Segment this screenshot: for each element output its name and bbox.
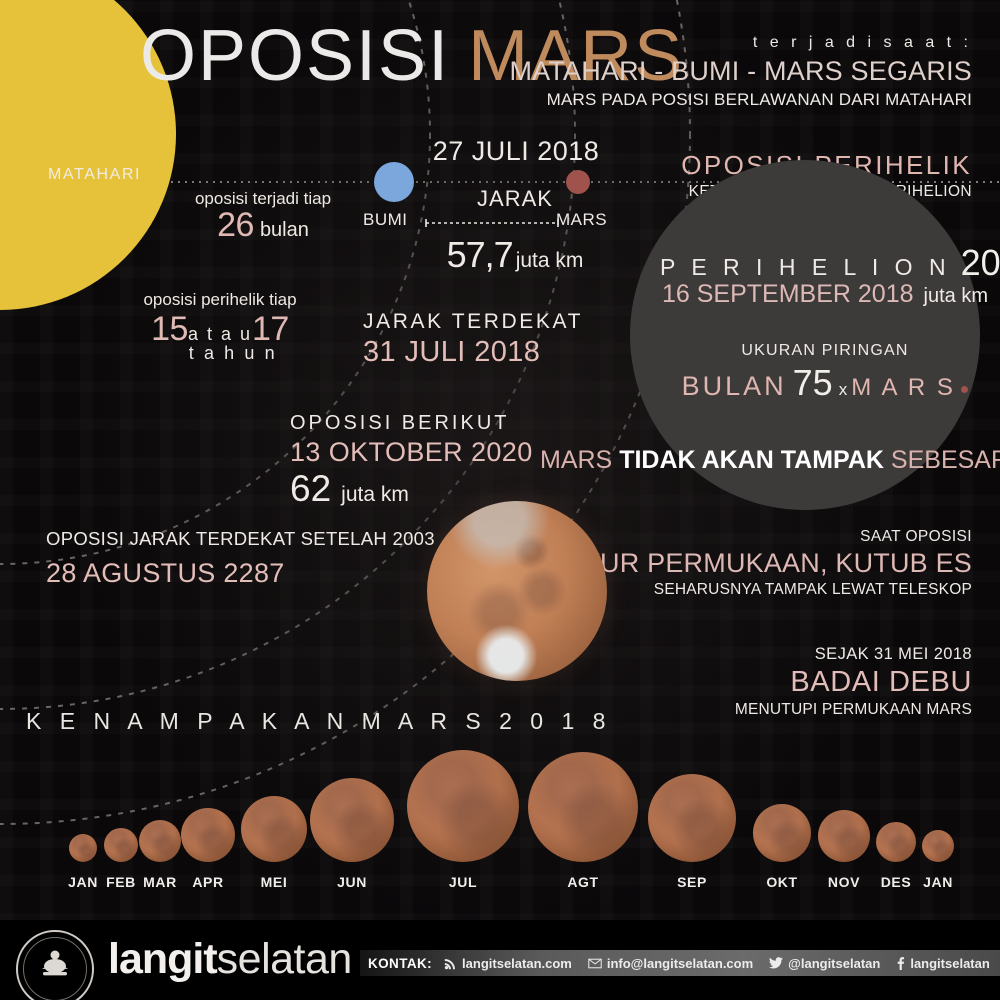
not-as-big-part1: MARS (540, 446, 619, 474)
mars-month-label-jun: JUN (337, 874, 367, 890)
contact-item-twitter[interactable]: @langitselatan (769, 956, 880, 971)
fact-next-value: 62 (290, 468, 331, 509)
fact-closest-heading: JARAK TERDEKAT (363, 310, 583, 334)
mars-disk-okt (753, 804, 811, 862)
occurs-block: t e r j a d i s a a t : MATAHARI - BUMI … (509, 34, 972, 110)
brand-wordmark: langitselatan (108, 938, 352, 981)
rss-icon (444, 957, 457, 970)
mars-disk-jan (922, 830, 954, 862)
fact-closest-date: 31 JULI 2018 (363, 336, 583, 369)
mars-disk-mei (241, 796, 307, 862)
mars-disk-jan (69, 834, 97, 862)
mars-month-label-okt: OKT (766, 874, 797, 890)
perihelion-word: P E R I H E L I O N (660, 254, 951, 280)
fact-perihelic-value1: 15 (151, 310, 188, 348)
disk-size-mars: M A R S (851, 374, 955, 401)
fact-interval-value: 26 (217, 206, 254, 244)
contact-item-facebook[interactable]: langitselatan (896, 956, 989, 971)
occurs-kicker: t e r j a d i s a a t : (509, 34, 972, 52)
earth-label: BUMI (363, 210, 408, 230)
disk-size-block: UKURAN PIRINGAN BULAN75xM A R S (660, 342, 990, 404)
langitselatan-logo-icon (16, 930, 94, 1000)
surface-kicker: SAAT OPOSISI (559, 528, 972, 546)
fact-perihelic-sub: oposisi perihelik tiap (130, 290, 310, 310)
mars-disk-agt (528, 752, 638, 862)
wordmark-bold: langit (108, 935, 217, 983)
sun-label: MATAHARI (48, 166, 188, 184)
measure-bar-icon (424, 218, 560, 228)
not-as-big-part3: SEBESAR BULAN (884, 446, 1000, 474)
occurs-line1: MATAHARI - BUMI - MARS SEGARIS (509, 56, 972, 87)
mars-disk-des (876, 822, 916, 862)
mars-month-label-sep: SEP (677, 874, 707, 890)
contact-item-text: langitselatan (910, 956, 989, 971)
surface-sub: SEHARUSNYA TAMPAK LEWAT TELESKOP (559, 581, 972, 599)
fact-next-heading: OPOSISI BERIKUT (290, 412, 533, 435)
mars-month-label-jan: JAN (923, 874, 953, 890)
mars-disk-apr (181, 808, 235, 862)
perihelion-block: P E R I H E L I O N207 16 SEPTEMBER 2018… (660, 242, 990, 309)
fact-2287-date: 28 AGUSTUS 2287 (46, 558, 435, 589)
disk-size-moon: BULAN (682, 371, 787, 401)
fact-next-opposition: OPOSISI BERIKUT 13 OKTOBER 2020 62juta k… (290, 412, 533, 510)
mars-month-label-des: DES (881, 874, 912, 890)
fact-opposition-interval: oposisi terjadi tiap 26bulan (178, 189, 348, 245)
mars-disk-mar (139, 820, 181, 862)
infographic-poster: MATAHARI OPOSISIMARS 27 JULI 2018 BUMI M… (0, 0, 1000, 1000)
fact-next-unit: juta km (341, 483, 409, 506)
fact-interval-unit: bulan (260, 219, 309, 241)
mars-month-label-feb: FEB (106, 874, 136, 890)
distance-value: 57,7juta km (400, 234, 630, 276)
perihelion-unit: juta km (924, 285, 988, 307)
mars-disk-jun (310, 778, 394, 862)
appearance-title: K E N A M P A K A N M A R S 2 0 1 8 (26, 708, 611, 735)
mars-month-label-jan: JAN (68, 874, 98, 890)
mars-label: MARS (556, 210, 607, 230)
mars-month-label-mei: MEI (261, 874, 288, 890)
footer: langitselatan KONTAK: langitselatan.comi… (0, 920, 1000, 1000)
mars-disk-jul (407, 750, 519, 862)
mars-small-dot-icon (961, 386, 968, 393)
facebook-icon (896, 957, 905, 970)
fact-closest-after-2003: OPOSISI JARAK TERDEKAT SETELAH 2003 28 A… (46, 528, 435, 589)
occurs-line2: MARS PADA POSISI BERLAWANAN DARI MATAHAR… (509, 90, 972, 110)
mars-disk-sep (648, 774, 736, 862)
mars-telescope-image (427, 501, 607, 681)
distance-number: 57,7 (447, 234, 513, 275)
surface-heading: FITUR PERMUKAAN, KUTUB ES (559, 548, 972, 579)
title-word-oposisi: OPOSISI (140, 16, 450, 96)
mars-month-label-nov: NOV (828, 874, 860, 890)
contact-item-text: info@langitselatan.com (607, 956, 753, 971)
fact-closest-approach: JARAK TERDEKAT 31 JULI 2018 (363, 310, 583, 369)
fact-next-date: 13 OKTOBER 2020 (290, 437, 533, 468)
perihelion-date: 16 SEPTEMBER 2018 (662, 280, 914, 308)
mars-month-label-agt: AGT (567, 874, 598, 890)
email-icon (588, 958, 602, 969)
contact-item-text: @langitselatan (788, 956, 880, 971)
opposition-date: 27 JULI 2018 (386, 136, 646, 167)
not-as-big-as-moon: MARS TIDAK AKAN TAMPAK SEBESAR BULAN (540, 446, 980, 475)
contact-item-email[interactable]: info@langitselatan.com (588, 956, 753, 971)
mars-disk-nov (818, 810, 870, 862)
earth-dot-icon (374, 162, 414, 202)
distance-unit: juta km (516, 249, 584, 272)
fact-2287-heading: OPOSISI JARAK TERDEKAT SETELAH 2003 (46, 528, 435, 550)
distance-label: JARAK (420, 186, 610, 212)
fact-perihelic-interval: oposisi perihelik tiap 15a t a u17 t a h… (130, 290, 310, 364)
disk-size-times: x (839, 380, 848, 399)
contact-item-text: langitselatan.com (462, 956, 572, 971)
disk-size-factor: 75 (793, 362, 833, 403)
wordmark-thin: selatan (217, 935, 352, 983)
fact-perihelic-conj: a t a u (188, 324, 252, 344)
perihelion-number: 207 (961, 242, 1000, 283)
mars-disk-feb (104, 828, 138, 862)
not-as-big-part2: TIDAK AKAN TAMPAK (619, 446, 884, 474)
contact-bar: KONTAK: langitselatan.cominfo@langitsela… (360, 950, 1000, 976)
mars-month-label-jul: JUL (449, 874, 477, 890)
mars-month-label-mar: MAR (143, 874, 177, 890)
surface-features-block: SAAT OPOSISI FITUR PERMUKAAN, KUTUB ES S… (559, 528, 972, 599)
contact-item-rss[interactable]: langitselatan.com (444, 956, 572, 971)
mars-month-label-apr: APR (192, 874, 223, 890)
twitter-icon (769, 957, 783, 969)
disk-size-heading: UKURAN PIRINGAN (660, 342, 990, 360)
dust-storm-heading: BADAI DEBU (735, 666, 972, 699)
dust-storm-block: SEJAK 31 MEI 2018 BADAI DEBU MENUTUPI PE… (735, 645, 972, 719)
mars-size-comparison-row: JANFEBMARAPRMEIJUNJULAGTSEPOKTNOVDESJAN (0, 760, 1000, 890)
dust-storm-kicker: SEJAK 31 MEI 2018 (735, 645, 972, 664)
dust-storm-sub: MENUTUPI PERMUKAAN MARS (735, 701, 972, 719)
contact-label: KONTAK: (368, 956, 432, 971)
